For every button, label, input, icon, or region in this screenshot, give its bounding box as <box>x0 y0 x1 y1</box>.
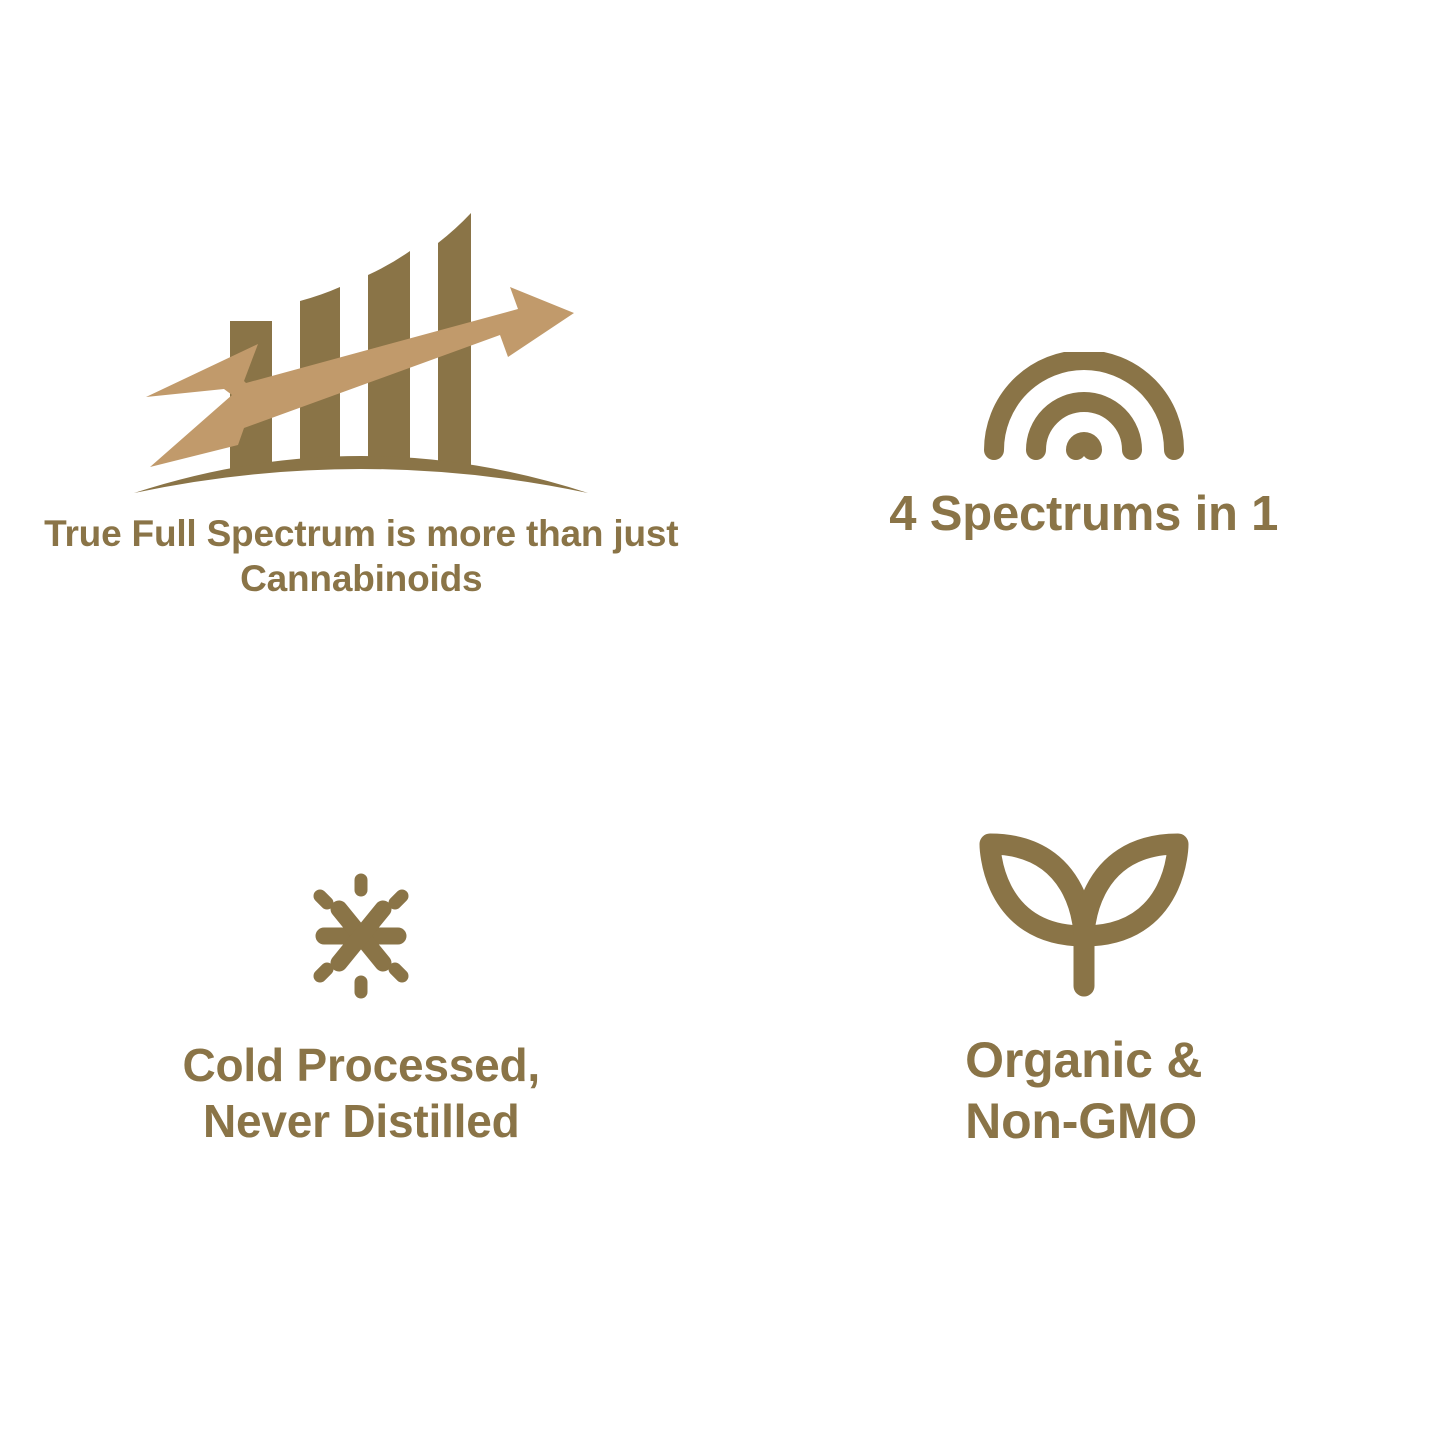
feature-label: True Full Spectrum is more than just Can… <box>41 511 681 601</box>
feature-item-true-full-spectrum: True Full Spectrum is more than just Can… <box>0 0 723 723</box>
rainbow-arcs-icon <box>979 352 1189 460</box>
feature-grid: True Full Spectrum is more than just Can… <box>0 0 1445 1445</box>
sprout-leaves-icon <box>974 828 1194 1000</box>
growth-bar-chart-arrow-icon <box>126 205 596 495</box>
feature-item-cold-processed: Cold Processed, Never Distilled <box>0 723 723 1445</box>
feature-label: Cold Processed, Never Distilled <box>183 1037 540 1149</box>
snowflake-burst-icon <box>298 873 424 999</box>
feature-label: Organic & Non-GMO <box>965 1030 1202 1152</box>
feature-item-four-spectrums: 4 Spectrums in 1 <box>723 0 1445 723</box>
feature-item-organic-non-gmo: Organic & Non-GMO <box>723 723 1445 1445</box>
feature-badges-panel: True Full Spectrum is more than just Can… <box>0 0 1445 1445</box>
feature-label: 4 Spectrums in 1 <box>889 486 1278 544</box>
